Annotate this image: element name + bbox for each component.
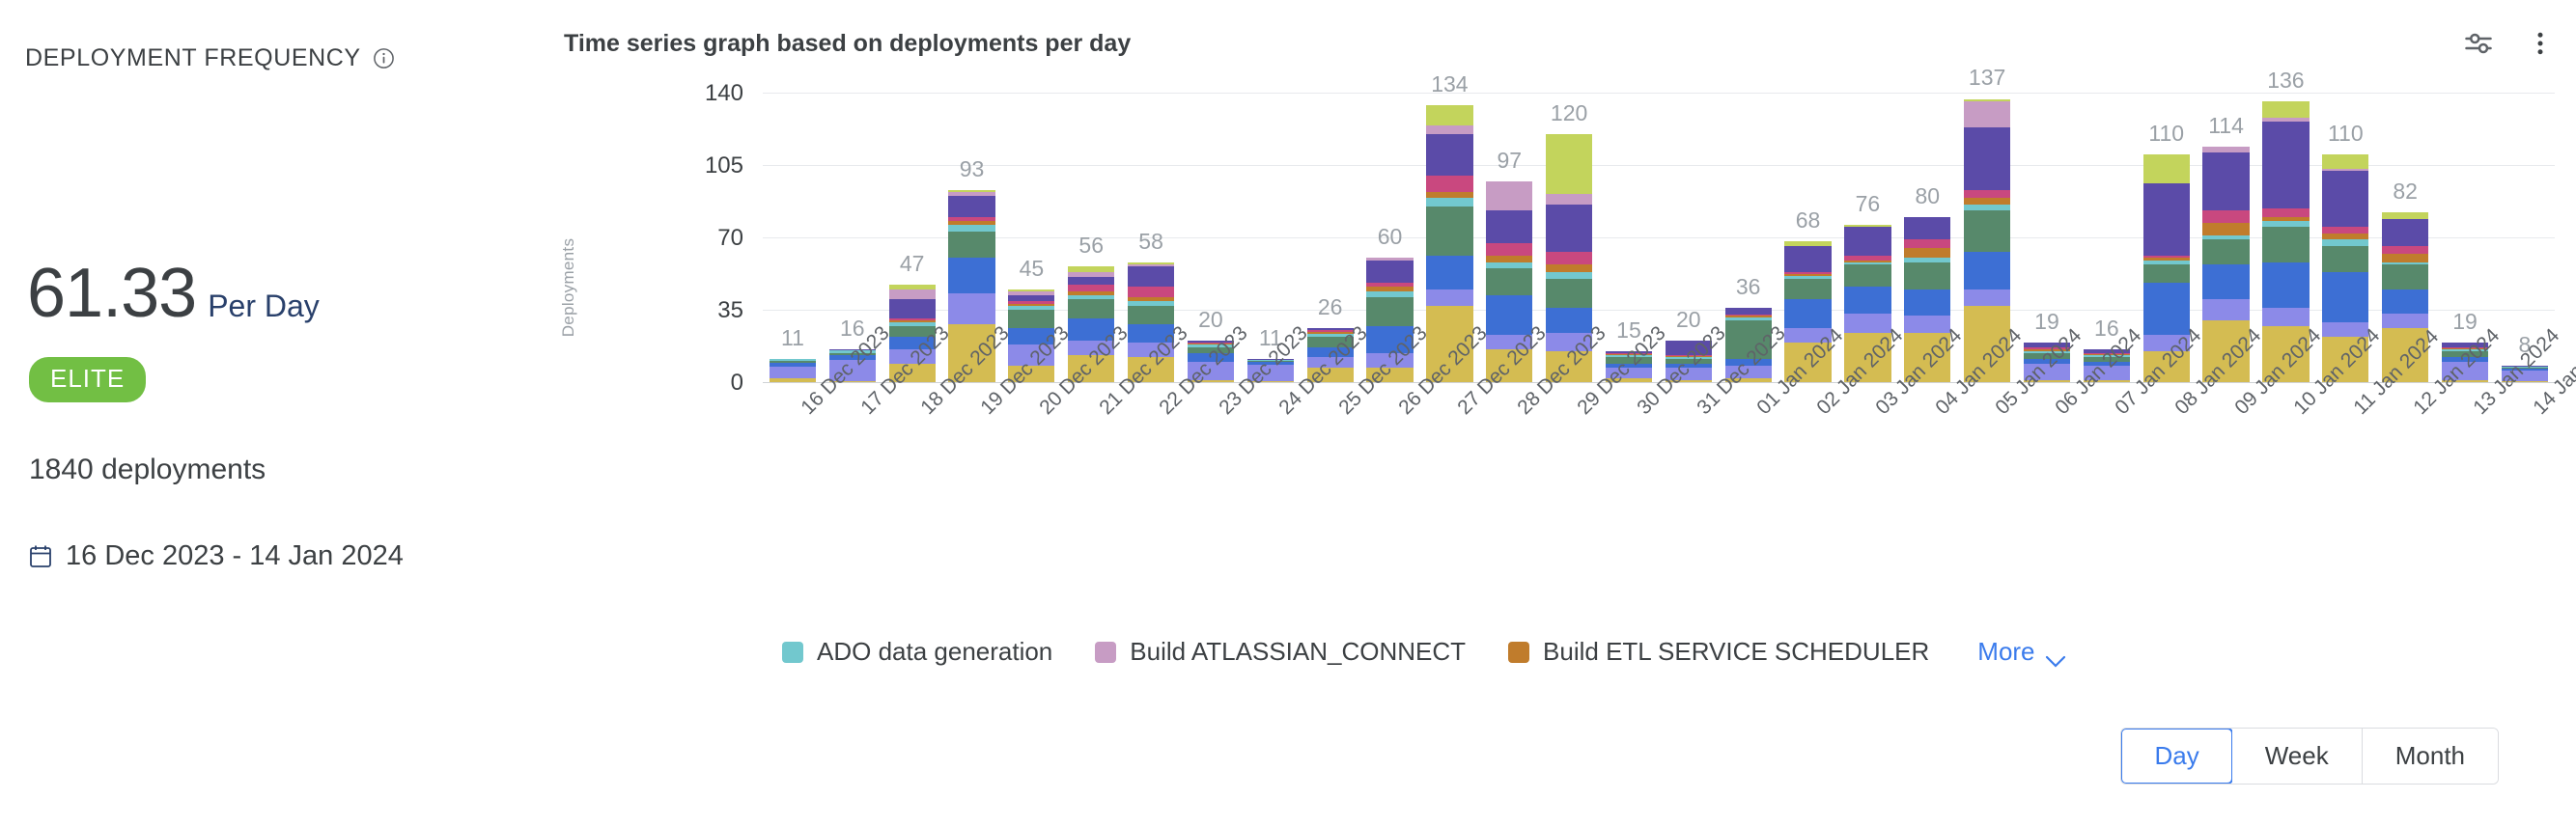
kebab-menu-icon[interactable] <box>2526 29 2555 58</box>
sliders-icon[interactable] <box>2464 29 2493 58</box>
x-label-slot: 29 Dec 2023 <box>1539 388 1599 533</box>
bar-segment <box>2143 183 2190 256</box>
bar-segment <box>1068 299 1114 317</box>
date-range[interactable]: 16 Dec 2023 - 14 Jan 2024 <box>29 540 404 572</box>
x-label-slot: 20 Dec 2023 <box>1001 388 1061 533</box>
bar-value-label: 80 <box>1897 183 1957 209</box>
bar-segment <box>1546 194 1592 205</box>
bar-segment <box>1366 261 1413 284</box>
bar-value-label: 58 <box>1121 229 1181 255</box>
x-label-slot: 19 Dec 2023 <box>942 388 1002 533</box>
metric-value-row: 61.33 Per Day <box>27 259 320 328</box>
bar-slot[interactable]: 11 <box>763 93 823 382</box>
bar-segment <box>1008 310 1054 328</box>
info-icon[interactable] <box>373 47 395 69</box>
y-tick-label: 70 <box>657 225 743 252</box>
x-label-slot: 04 Jan 2024 <box>1897 388 1957 533</box>
metric-summary-panel: DEPLOYMENT FREQUENCY 61.33 Per Day ELITE… <box>0 0 541 826</box>
bar-segment <box>2322 171 2368 227</box>
bar-value-label: 45 <box>1001 256 1061 282</box>
bar-segment <box>1964 252 2010 289</box>
date-range-text: 16 Dec 2023 - 14 Jan 2024 <box>66 540 404 572</box>
bar-segment <box>1068 277 1114 286</box>
bar-segment <box>2382 314 2428 328</box>
bar-segment <box>2262 122 2309 208</box>
bar-segment <box>1546 134 1592 194</box>
y-tick-label: 140 <box>657 80 743 107</box>
stacked-bar[interactable] <box>770 359 816 382</box>
bar-segment <box>1546 308 1592 333</box>
bar-segment <box>948 258 994 292</box>
y-tick-label: 105 <box>657 152 743 179</box>
bar-value-label: 76 <box>1837 191 1897 217</box>
bar-segment <box>1904 239 1950 248</box>
bar-segment <box>2143 264 2190 283</box>
bar-segment <box>1844 227 1890 256</box>
calendar-icon <box>29 544 52 569</box>
bar-value-label: 134 <box>1419 71 1479 97</box>
x-label-slot: 05 Jan 2024 <box>1957 388 2017 533</box>
legend-label: Build ATLASSIAN_CONNECT <box>1130 637 1466 667</box>
page-title: DEPLOYMENT FREQUENCY <box>25 44 361 72</box>
bar-segment <box>2322 154 2368 169</box>
x-label-slot: 14 Jan 2024 <box>2495 388 2555 533</box>
bar-segment <box>1426 256 1472 289</box>
chart-title: Time series graph based on deployments p… <box>564 30 1131 58</box>
x-label-slot: 28 Dec 2023 <box>1479 388 1539 533</box>
bar-segment <box>2202 210 2249 223</box>
y-axis-ticks: 03570105140 <box>541 93 743 382</box>
bar-segment <box>2202 299 2249 319</box>
bar-segment <box>1725 308 1772 316</box>
bar-segment <box>948 232 994 259</box>
bar-value-label: 114 <box>2197 113 2256 139</box>
bar-segment <box>1546 279 1592 308</box>
x-label-slot: 10 Jan 2024 <box>2255 388 2315 533</box>
bar-segment <box>1426 105 1472 125</box>
legend-item[interactable]: Build ETL SERVICE SCHEDULER <box>1508 637 1929 667</box>
bar-segment <box>2262 308 2309 326</box>
bar-segment <box>1128 266 1174 287</box>
bar-segment <box>2322 246 2368 273</box>
granularity-option-day[interactable]: Day <box>2120 728 2232 785</box>
bar-segment <box>1486 210 1532 243</box>
bar-segment <box>1784 246 1831 273</box>
x-label-slot: 18 Dec 2023 <box>882 388 942 533</box>
bar-value-label: 26 <box>1301 294 1360 320</box>
bar-value-label: 11 <box>763 325 823 351</box>
bar-segment <box>889 289 936 300</box>
granularity-option-month[interactable]: Month <box>2363 729 2498 784</box>
bar-value-label: 47 <box>882 251 942 277</box>
x-label-slot: 11 Jan 2024 <box>2315 388 2375 533</box>
bar-value-label: 93 <box>942 156 1002 182</box>
y-tick-label: 35 <box>657 297 743 324</box>
bar-value-label: 120 <box>1539 100 1599 126</box>
x-label-slot: 30 Dec 2023 <box>1599 388 1659 533</box>
legend-label: Build ETL SERVICE SCHEDULER <box>1543 637 1929 667</box>
metric-value: 61.33 <box>27 259 196 328</box>
x-label-slot: 24 Dec 2023 <box>1241 388 1301 533</box>
bar-segment <box>1904 289 1950 317</box>
legend-swatch <box>1095 642 1116 663</box>
x-label-slot: 25 Dec 2023 <box>1301 388 1360 533</box>
bar-segment <box>1964 101 2010 128</box>
bar-value-label: 110 <box>2137 121 2197 147</box>
bar-segment <box>1904 262 1950 289</box>
bar-segment <box>1904 217 1950 240</box>
legend-label: ADO data generation <box>817 637 1052 667</box>
bar-segment <box>948 196 994 216</box>
x-label-slot: 13 Jan 2024 <box>2435 388 2495 533</box>
bar-value-label: 56 <box>1061 233 1121 259</box>
bar-segment <box>2202 239 2249 264</box>
x-label-slot: 06 Jan 2024 <box>2017 388 2077 533</box>
bar-segment <box>948 293 994 324</box>
bar-segment <box>1426 134 1472 176</box>
bar-value-label: 68 <box>1778 207 1838 234</box>
bar-segment <box>2382 219 2428 246</box>
x-label-slot: 08 Jan 2024 <box>2137 388 2197 533</box>
bar-segment <box>1546 252 1592 264</box>
bar-value-label: 137 <box>1957 65 2017 91</box>
bar-segment <box>1426 125 1472 134</box>
deployment-frequency-card: DEPLOYMENT FREQUENCY 61.33 Per Day ELITE… <box>0 0 2576 826</box>
bar-segment <box>1426 176 1472 192</box>
bar-segment <box>1486 295 1532 335</box>
metric-unit: Per Day <box>208 289 320 324</box>
x-label-slot: 21 Dec 2023 <box>1061 388 1121 533</box>
bar-segment <box>2262 262 2309 308</box>
bar-segment <box>1426 289 1472 306</box>
x-label-slot: 26 Dec 2023 <box>1360 388 1420 533</box>
bar-segment <box>1964 210 2010 252</box>
bar-segment <box>2143 283 2190 335</box>
bar-segment <box>1426 206 1472 256</box>
bar-segment <box>2382 289 2428 315</box>
bar-segment <box>1546 205 1592 252</box>
x-label-slot: 16 Dec 2023 <box>763 388 823 533</box>
y-tick-label: 0 <box>657 370 743 397</box>
metric-header: DEPLOYMENT FREQUENCY <box>25 44 395 72</box>
bar-segment <box>1366 297 1413 326</box>
bar-segment <box>2202 264 2249 299</box>
bar-value-label: 60 <box>1360 224 1420 250</box>
granularity-option-week[interactable]: Week <box>2232 729 2363 784</box>
x-label-slot: 12 Jan 2024 <box>2375 388 2435 533</box>
x-label-slot: 03 Jan 2024 <box>1837 388 1897 533</box>
bar-segment <box>2143 154 2190 183</box>
bar-segment <box>1964 190 2010 199</box>
chevron-down-icon <box>2045 646 2066 659</box>
bar-segment <box>1486 268 1532 295</box>
x-label-slot: 17 Dec 2023 <box>823 388 882 533</box>
plot-area: Deployments 03570105140 1116479345565820… <box>541 93 2576 508</box>
bar-value-label: 97 <box>1479 148 1539 174</box>
x-label-slot: 01 Jan 2024 <box>1719 388 1778 533</box>
legend-swatch <box>1508 642 1529 663</box>
x-label-slot: 09 Jan 2024 <box>2197 388 2256 533</box>
status-badge: ELITE <box>29 357 146 402</box>
bar-segment <box>1844 314 1890 332</box>
bar-segment <box>2382 264 2428 289</box>
bar-segment <box>1964 289 2010 306</box>
x-axis-labels: 16 Dec 202317 Dec 202318 Dec 202319 Dec … <box>763 388 2555 533</box>
bar-segment <box>2382 246 2428 255</box>
bar-segment <box>1486 181 1532 210</box>
bar-segment <box>1844 287 1890 314</box>
chart-panel: Time series graph based on deployments p… <box>541 0 2576 826</box>
legend-more-link[interactable]: More <box>1977 637 2065 667</box>
chart-header-actions <box>2464 29 2555 58</box>
x-label-slot: 31 Dec 2023 <box>1659 388 1719 533</box>
chart-header: Time series graph based on deployments p… <box>564 29 2555 58</box>
bar-segment <box>1546 264 1592 273</box>
deployments-count: 1840 deployments <box>29 454 266 486</box>
legend-more-label: More <box>1977 637 2034 667</box>
bar-segment <box>1964 127 2010 189</box>
bar-segment <box>1128 306 1174 324</box>
bar-segment <box>2382 254 2428 262</box>
bar-segment <box>2202 152 2249 210</box>
bar-segment <box>1844 264 1890 288</box>
legend-swatch <box>782 642 803 663</box>
bar-value-label: 82 <box>2375 179 2435 205</box>
bar-segment <box>1784 299 1831 328</box>
bar-segment <box>2262 227 2309 262</box>
bar-segment <box>2322 272 2368 321</box>
bar-value-label: 36 <box>1719 274 1778 300</box>
bar-value-label: 110 <box>2315 121 2375 147</box>
legend-item[interactable]: Build ATLASSIAN_CONNECT <box>1095 637 1466 667</box>
x-label-slot: 23 Dec 2023 <box>1181 388 1241 533</box>
bar-value-label: 136 <box>2255 68 2315 94</box>
x-label-slot: 22 Dec 2023 <box>1121 388 1181 533</box>
bar-segment <box>889 299 936 317</box>
legend-item[interactable]: ADO data generation <box>782 637 1052 667</box>
bar-segment <box>1128 287 1174 297</box>
bar-segment <box>770 367 816 378</box>
bar-segment <box>1486 243 1532 256</box>
bar-segment <box>2262 208 2309 217</box>
bar-segment <box>1904 248 1950 259</box>
bar-segment <box>2202 223 2249 235</box>
x-label-slot: 02 Jan 2024 <box>1778 388 1838 533</box>
x-label-slot: 27 Dec 2023 <box>1419 388 1479 533</box>
legend: ADO data generationBuild ATLASSIAN_CONNE… <box>782 637 2066 667</box>
bar-segment <box>2262 101 2309 118</box>
bar-segment <box>1426 198 1472 206</box>
bar-segment <box>770 378 816 382</box>
granularity-toggle: DayWeekMonth <box>2120 728 2499 785</box>
x-label-slot: 07 Jan 2024 <box>2077 388 2137 533</box>
bar-segment <box>1784 279 1831 299</box>
